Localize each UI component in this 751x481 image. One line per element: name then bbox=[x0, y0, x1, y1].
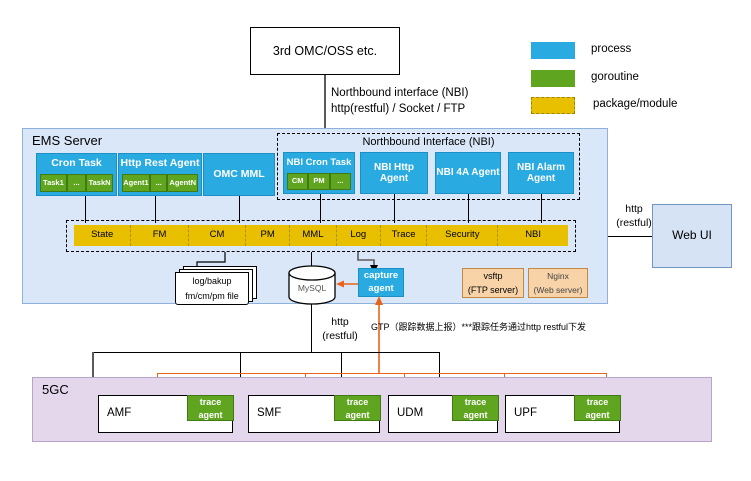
module-cm[interactable]: CM bbox=[189, 225, 246, 246]
connector-ems-to-5gc-http bbox=[311, 304, 312, 352]
process-omc-mml[interactable]: OMC MML bbox=[203, 153, 275, 196]
bus-http-horizontal bbox=[92, 352, 440, 353]
trace-agent-amf-line1: trace bbox=[188, 396, 233, 409]
gtp-note-label: GTP（跟踪数据上报）***跟踪任务通过http restful下发 bbox=[371, 320, 631, 333]
module-log[interactable]: Log bbox=[337, 225, 381, 246]
file-stack-front: log/bakup fm/cm/pm file bbox=[175, 272, 249, 305]
goroutine-nbi-ellipsis: ... bbox=[330, 173, 351, 190]
nbi-link-line2: http(restful) / Socket / FTP bbox=[331, 102, 546, 118]
http-restful-label: http (restful) bbox=[315, 316, 365, 343]
webui-link-line1: http bbox=[611, 203, 657, 217]
goroutine-agent-ellipsis: ... bbox=[150, 174, 168, 192]
nf-smf[interactable]: SMF trace agent bbox=[248, 395, 380, 433]
nf-upf-label: UPF bbox=[514, 407, 537, 419]
server-vsftp-role: (FTP server) bbox=[463, 284, 523, 297]
server-vsftp-name: vsftp bbox=[463, 269, 523, 284]
server-nginx[interactable]: Nginx (Web server) bbox=[528, 268, 588, 298]
process-nbi-cron-task[interactable]: NBI Cron Task CM PM ... bbox=[283, 152, 355, 194]
trace-agent-smf-line2: agent bbox=[335, 409, 380, 421]
nf-udm[interactable]: UDM trace agent bbox=[388, 395, 498, 433]
nf-udm-label: UDM bbox=[397, 407, 423, 419]
trace-agent-smf-line1: trace bbox=[335, 396, 380, 409]
server-nginx-role: (Web server) bbox=[529, 284, 587, 297]
http-restful-line2: (restful) bbox=[315, 330, 365, 344]
arrow-gtp-to-capture-agent bbox=[373, 296, 385, 374]
connector-nbi-4a-agent-to-modules bbox=[468, 194, 469, 223]
process-nbi-cron-task-label: NBI Cron Task bbox=[284, 153, 354, 173]
legend-label-goroutine: goroutine bbox=[591, 71, 639, 83]
module-security[interactable]: Security bbox=[427, 225, 498, 246]
file-stack-label-line2: fm/cm/pm file bbox=[176, 289, 248, 304]
process-http-rest-agent[interactable]: Http Rest Agent Agent1 ... AgentN bbox=[118, 153, 202, 196]
connector-nbi-alarm-agent-to-modules bbox=[541, 194, 542, 223]
process-omc-mml-label: OMC MML bbox=[213, 169, 264, 181]
goroutine-nbi-cm[interactable]: CM bbox=[287, 173, 308, 190]
legend-swatch-goroutine bbox=[531, 70, 575, 87]
goroutine-task1[interactable]: Task1 bbox=[40, 174, 67, 192]
trace-agent-upf-line1: trace bbox=[575, 396, 620, 409]
trace-agent-smf[interactable]: trace agent bbox=[334, 395, 381, 421]
connector-http-rest-agent-to-modules bbox=[155, 196, 156, 223]
http-restful-line1: http bbox=[315, 316, 365, 330]
connector-ems-to-webui bbox=[608, 236, 652, 237]
legend-swatch-process bbox=[531, 42, 575, 59]
module-fm[interactable]: FM bbox=[131, 225, 188, 246]
goroutine-task-ellipsis: ... bbox=[67, 174, 86, 192]
connector-nbi-cron-task-to-modules bbox=[320, 194, 321, 223]
third-party-oss-box: 3rd OMC/OSS etc. bbox=[250, 27, 400, 75]
goroutine-agentn[interactable]: AgentN bbox=[167, 174, 198, 192]
connector-cron-task-to-modules bbox=[85, 196, 86, 223]
module-bar: State FM CM PM MML Log Trace Security NB… bbox=[74, 225, 568, 246]
process-nbi-alarm-agent-label: NBI Alarm Agent bbox=[509, 162, 573, 184]
process-http-rest-agent-label: Http Rest Agent bbox=[119, 154, 201, 174]
trace-agent-amf-line2: agent bbox=[188, 409, 233, 421]
goroutine-nbi-pm[interactable]: PM bbox=[308, 173, 329, 190]
webui-box[interactable]: Web UI bbox=[652, 204, 732, 268]
webui-link-label: http (restful) bbox=[611, 203, 657, 230]
bus-gtp-horizontal bbox=[157, 373, 607, 374]
capture-agent-label-line1: capture bbox=[359, 269, 403, 283]
connector-modules-to-mysql bbox=[311, 252, 312, 267]
process-nbi-4a-agent[interactable]: NBI 4A Agent bbox=[435, 152, 501, 194]
third-party-oss-label: 3rd OMC/OSS etc. bbox=[273, 44, 377, 58]
module-mml[interactable]: MML bbox=[290, 225, 337, 246]
goroutine-taskn[interactable]: TaskN bbox=[86, 174, 113, 192]
nbi-link-label: Northbound interface (NBI) http(restful)… bbox=[331, 86, 546, 117]
capture-agent-label-line2: agent bbox=[359, 283, 403, 296]
trace-agent-udm-line1: trace bbox=[453, 396, 498, 409]
process-nbi-alarm-agent[interactable]: NBI Alarm Agent bbox=[508, 152, 574, 194]
file-stack-label-line1: log/bakup bbox=[176, 273, 248, 289]
process-capture-agent[interactable]: capture agent bbox=[358, 268, 404, 297]
ems-server-title: EMS Server bbox=[32, 133, 102, 148]
trace-agent-amf[interactable]: trace agent bbox=[187, 395, 234, 421]
database-mysql-label: MySQL bbox=[298, 283, 327, 293]
webui-link-line2: (restful) bbox=[611, 217, 657, 231]
module-pm[interactable]: PM bbox=[246, 225, 290, 246]
nf-amf[interactable]: AMF trace agent bbox=[98, 395, 233, 433]
nbi-link-line1: Northbound interface (NBI) bbox=[331, 86, 546, 102]
nf-smf-label: SMF bbox=[257, 407, 281, 419]
goroutine-agent1[interactable]: Agent1 bbox=[122, 174, 150, 192]
trace-agent-udm[interactable]: trace agent bbox=[452, 395, 499, 421]
arrow-capture-agent-to-mysql bbox=[336, 279, 360, 289]
nf-upf[interactable]: UPF trace agent bbox=[505, 395, 620, 433]
trace-agent-upf[interactable]: trace agent bbox=[574, 395, 621, 421]
process-nbi-http-agent-label: NBI Http Agent bbox=[361, 162, 427, 184]
server-nginx-name: Nginx bbox=[529, 269, 587, 284]
trace-agent-upf-line2: agent bbox=[575, 409, 620, 421]
legend-label-process: process bbox=[591, 43, 631, 55]
module-nbi[interactable]: NBI bbox=[498, 225, 568, 246]
webui-label: Web UI bbox=[672, 229, 712, 242]
process-nbi-http-agent[interactable]: NBI Http Agent bbox=[360, 152, 428, 194]
process-nbi-4a-agent-label: NBI 4A Agent bbox=[436, 167, 499, 178]
legend-label-package-module: package/module bbox=[593, 98, 677, 110]
nbi-group-title: Northbound Interface (NBI) bbox=[277, 135, 580, 149]
server-vsftp[interactable]: vsftp (FTP server) bbox=[462, 268, 524, 298]
legend-swatch-package-module bbox=[531, 97, 575, 114]
nf-amf-label: AMF bbox=[107, 407, 131, 419]
connector-nbi-http-agent-to-modules bbox=[394, 194, 395, 223]
connector-omc-mml-to-modules bbox=[239, 196, 240, 223]
module-trace[interactable]: Trace bbox=[381, 225, 428, 246]
gc5-title: 5GC bbox=[42, 382, 69, 397]
process-cron-task-label: Cron Task bbox=[37, 154, 116, 174]
module-state[interactable]: State bbox=[74, 225, 131, 246]
database-mysql: MySQL bbox=[288, 266, 336, 304]
trace-agent-udm-line2: agent bbox=[453, 409, 498, 421]
legend: process goroutine package/module bbox=[531, 42, 746, 112]
process-cron-task[interactable]: Cron Task Task1 ... TaskN bbox=[36, 153, 117, 196]
